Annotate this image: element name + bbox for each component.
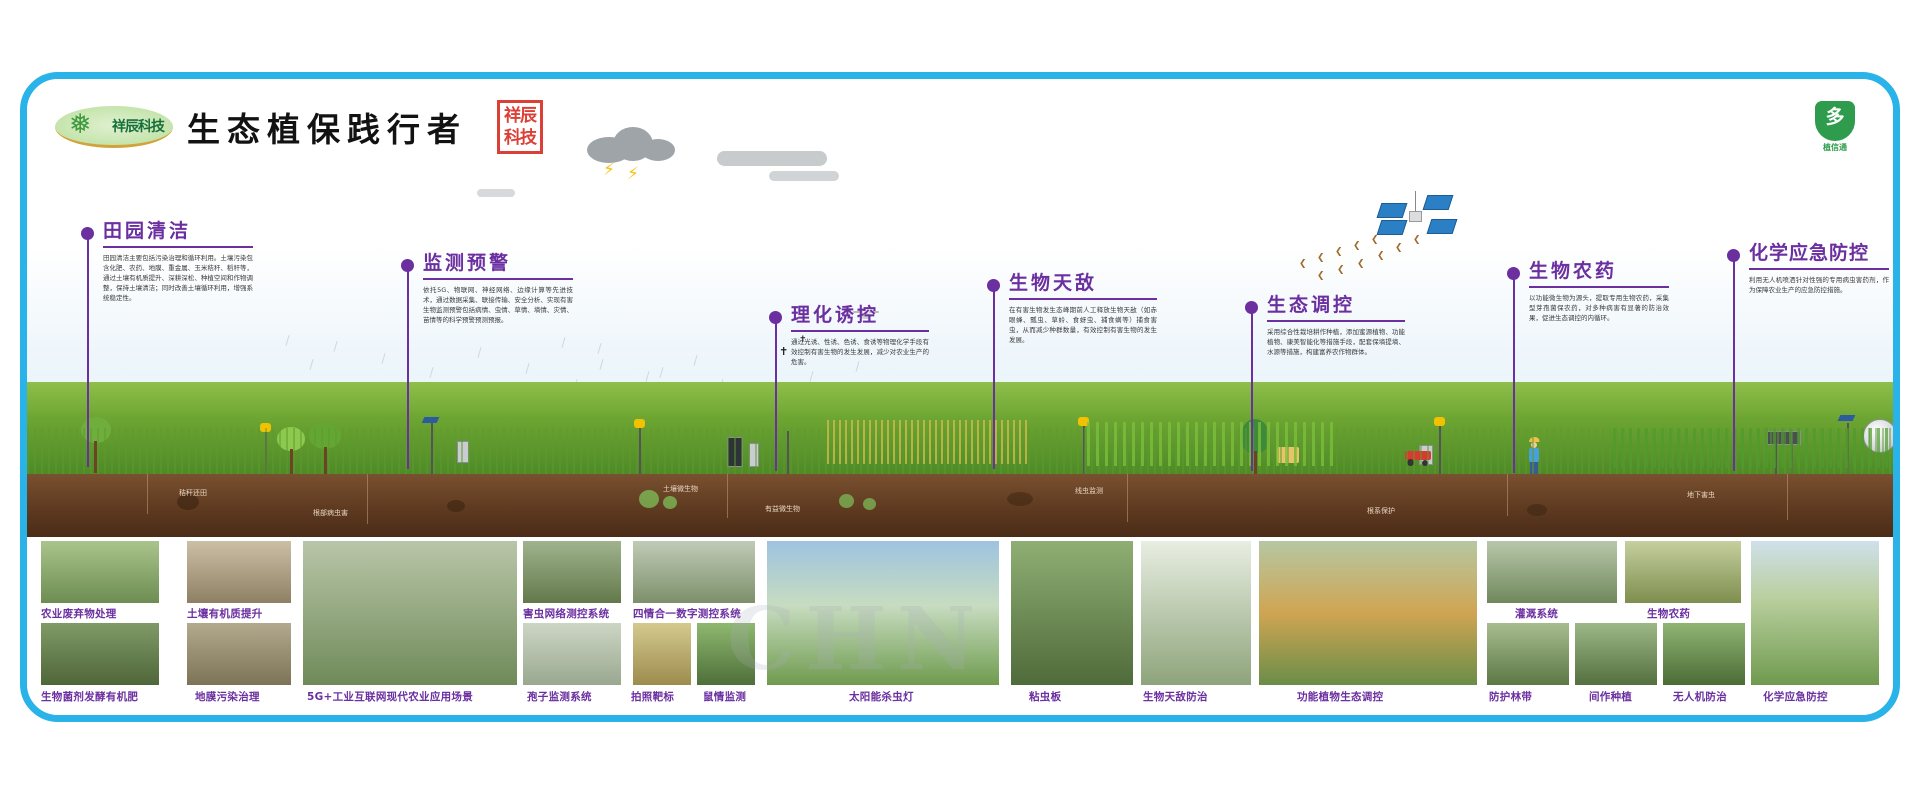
photo-gallery: 农业废弃物处理 生物菌剂发酵有机肥 土壤有机质提升 地膜污染治理 5G+工业互联… [27,537,1893,722]
illustration-scene: ❅ 祥辰科技 生态植保践行者 祥辰科技 多 植信通 ⚡ ⚡ ❮ ❮ ❮ ❮ ❮ [27,79,1893,474]
gallery-photo[interactable] [41,623,159,685]
butterfly-icon: ❅ [69,111,92,138]
gallery-caption: 拍照靶标 [631,689,674,704]
section-description: 依托5G、物联网、神经网络、边缘计算等先进技术，通过数据采集、联接传输、安全分析… [423,285,573,325]
gallery-caption: 防护林带 [1489,689,1532,704]
gallery-caption: 土壤有机质提升 [187,606,263,621]
gallery-caption: 无人机防治 [1673,689,1727,704]
gallery-caption: 四情合一数字测控系统 [633,606,741,621]
cloud-icon [717,151,827,166]
marker-stem [775,321,777,471]
gallery-photo[interactable] [1141,541,1251,685]
cloud-icon [477,189,515,197]
marker-stem [993,289,995,469]
certification-badge: 多 植信通 [1807,101,1863,155]
section-title: 化学应急防控 [1749,243,1889,264]
divider [1529,286,1669,288]
marker-stem [407,269,409,469]
poster-header: ❅ 祥辰科技 生态植保践行者 祥辰科技 [55,101,543,153]
gallery-photo[interactable] [633,623,691,685]
gallery-photo[interactable] [187,541,291,603]
gallery-photo[interactable] [767,541,999,685]
section-description: 通过光诱、性诱、色诱、食诱等物理化学手段有效控制有害生物的发生发展，减少对农业生… [791,337,929,367]
section-title: 田园清洁 [103,221,253,242]
solar-panel-icon [422,417,440,423]
gallery-photo[interactable] [523,623,621,685]
divider [103,246,253,248]
gallery-caption: 5G+工业互联网现代农业应用场景 [307,689,473,704]
divider [791,330,929,332]
divider [1749,268,1889,270]
gallery-photo[interactable] [1487,623,1569,685]
underground-cross-section: 秸秆还田 根部病虫害 土壤微生物 有益微生物 线虫监测 根系保护 地下害虫 [27,474,1893,537]
gallery-photo[interactable] [523,541,621,603]
page-title: 生态植保践行者 [187,103,467,151]
gallery-photo[interactable] [303,541,517,685]
gallery-caption: 化学应急防控 [1763,689,1828,704]
solar-lamp-icon [634,419,645,428]
gallery-caption: 鼠情监测 [703,689,746,704]
gallery-photo[interactable] [1259,541,1477,685]
divider [1009,298,1157,300]
divider [423,278,573,280]
gallery-photo[interactable] [187,623,291,685]
red-seal-stamp: 祥辰科技 [497,100,543,154]
marker-stem [1251,311,1253,471]
gallery-caption: 农业废弃物处理 [41,606,117,621]
marker-stem [1733,259,1735,471]
wheat-rows [827,420,1027,464]
brand-logo: ❅ 祥辰科技 [55,106,173,148]
gallery-photo[interactable] [1487,541,1617,603]
satellite-icon [1379,189,1459,259]
underground-label: 土壤微生物 [663,484,698,494]
underground-label: 根系保护 [1367,506,1395,516]
cloud-icon [769,171,839,181]
gallery-caption: 害虫网络测控系统 [523,606,609,621]
gallery-caption: 孢子监测系统 [527,689,592,704]
brand-name: 祥辰科技 [112,116,173,136]
section-title: 生物天敌 [1009,273,1157,294]
solar-panel-icon [1838,415,1856,421]
gallery-caption: 太阳能杀虫灯 [849,689,914,704]
section-description: 在有害生物发生态峰期前人工释放生物天敌（如赤眼蜂、瓢虫、草蛉、食蚜虫、捕食螨等）… [1009,305,1157,345]
gallery-photo[interactable] [1575,623,1657,685]
gallery-caption: 粘虫板 [1029,689,1061,704]
divider [1267,320,1405,322]
underground-label: 线虫监测 [1075,486,1103,496]
crop-rows [1613,428,1900,468]
section-description: 利用无人机喷洒针对性强的专用病虫害药剂，作为保障农业生产的应急防控措施。 [1749,275,1889,295]
marker-stem [87,237,89,467]
underground-label: 地下害虫 [1687,490,1715,500]
shield-icon: 多 [1815,101,1855,141]
gallery-photo[interactable] [1751,541,1879,685]
underground-label: 根部病虫害 [313,508,348,518]
gallery-caption: 地膜污染治理 [195,689,260,704]
gallery-caption: 生物菌剂发酵有机肥 [41,689,138,704]
poster-frame: ❅ 祥辰科技 生态植保践行者 祥辰科技 多 植信通 ⚡ ⚡ ❮ ❮ ❮ ❮ ❮ [20,72,1900,722]
gallery-caption: 间作种植 [1589,689,1632,704]
gallery-photo[interactable] [697,623,755,685]
crop-rows [1087,422,1337,466]
underground-label: 有益微生物 [765,504,800,514]
gallery-photo[interactable] [41,541,159,603]
underground-label: 秸秆还田 [179,488,207,498]
gallery-photo[interactable] [1625,541,1741,603]
marker-stem [1513,277,1515,473]
section-title: 理化诱控 [791,305,929,326]
badge-subtitle: 植信通 [1807,142,1863,153]
section-title: 生态调控 [1267,295,1405,316]
section-title: 生物农药 [1529,261,1669,282]
section-title: 监测预警 [423,253,573,274]
gallery-photo[interactable] [633,541,755,603]
gallery-caption: 功能植物生态调控 [1297,689,1383,704]
gallery-caption: 生物天敌防治 [1143,689,1208,704]
solar-lamp-icon [1434,417,1445,426]
gallery-photo[interactable] [1663,623,1745,685]
section-description: 田园清洁主要包括污染治理和循环利用。土壤污染包含化肥、农药、地膜、重金属、玉米秸… [103,253,253,303]
section-description: 采用综合性栽培耕作种植，添加蜜源植物、功能植物、康美智能化等措施手段，配套保墒提… [1267,327,1405,357]
section-description: 以功能微生物为源头，提取专用生物农药，采集型芽孢菌保农药，对多种病害有显著的防治… [1529,293,1669,323]
gallery-caption: 生物农药 [1647,606,1690,621]
gallery-photo[interactable] [1011,541,1133,685]
gallery-caption: 灌溉系统 [1515,606,1558,621]
